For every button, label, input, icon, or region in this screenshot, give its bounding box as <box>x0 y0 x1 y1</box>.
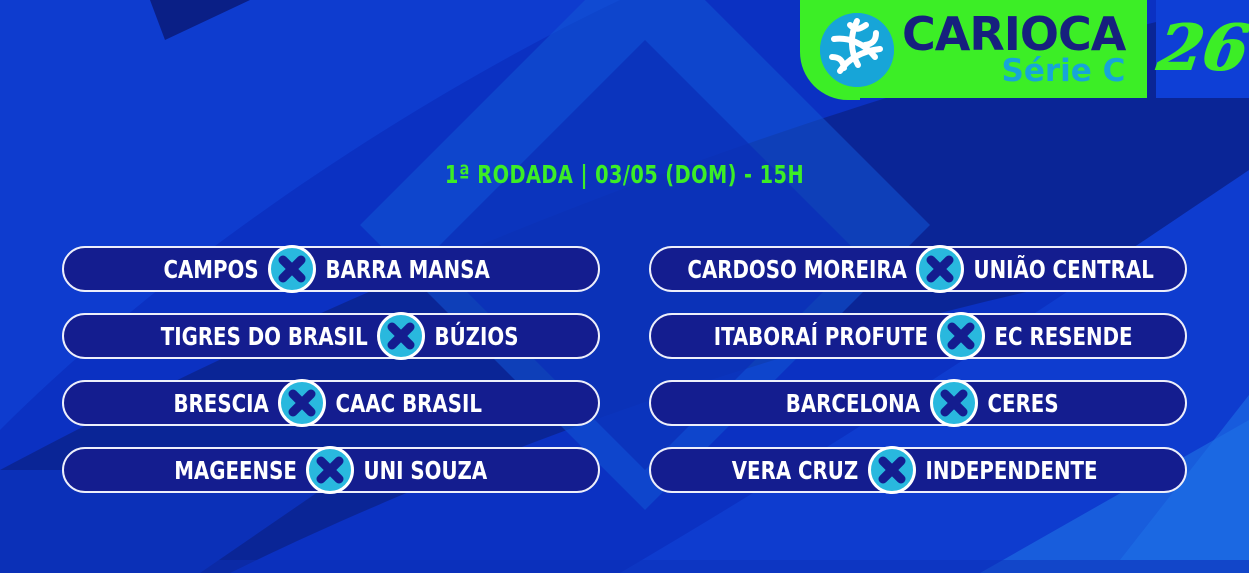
logo-subtitle: Série C <box>902 56 1125 87</box>
logo-wordmark: CARIOCA Série C <box>902 13 1125 87</box>
match-row[interactable]: BRESCIA CAAC BRASIL <box>62 380 600 426</box>
away-team: UNIÃO CENTRAL <box>970 257 1154 282</box>
ball-swirl-icon <box>820 13 894 87</box>
home-team: MAGEENSE <box>174 458 300 483</box>
match-row[interactable]: VERA CRUZ INDEPENDENTE <box>649 447 1187 493</box>
x-mark-icon <box>278 379 326 427</box>
away-team: CAAC BRASIL <box>332 391 482 416</box>
x-versus-icon <box>377 312 425 360</box>
fixture-graphic: CARIOCA Série C 26 1ª RODADA | 03/05 (DO… <box>0 0 1249 573</box>
away-team: BARRA MANSA <box>322 257 490 282</box>
x-mark-icon <box>937 312 985 360</box>
match-row[interactable]: ITABORAÍ PROFUTE EC RESENDE <box>649 313 1187 359</box>
match-column-right: CARDOSO MOREIRA UNIÃO CENTRAL ITABORAÍ P… <box>649 246 1187 493</box>
home-team: BARCELONA <box>786 391 924 416</box>
home-team: CAMPOS <box>163 257 262 282</box>
home-team: BRESCIA <box>173 391 272 416</box>
away-team: CERES <box>984 391 1059 416</box>
x-mark-icon <box>868 446 916 494</box>
x-mark-icon <box>377 312 425 360</box>
competition-logo-badge: CARIOCA Série C <box>802 0 1147 98</box>
x-mark-icon <box>306 446 354 494</box>
x-mark-icon <box>930 379 978 427</box>
logo-title: CARIOCA <box>902 13 1125 55</box>
x-versus-icon <box>268 245 316 293</box>
match-row[interactable]: BARCELONA CERES <box>649 380 1187 426</box>
x-mark-icon <box>268 245 316 293</box>
x-mark-icon <box>916 245 964 293</box>
away-team: INDEPENDENTE <box>922 458 1098 483</box>
x-versus-icon <box>278 379 326 427</box>
season-year: 26 <box>1153 17 1249 81</box>
match-row[interactable]: CARDOSO MOREIRA UNIÃO CENTRAL <box>649 246 1187 292</box>
x-versus-icon <box>868 446 916 494</box>
x-versus-icon <box>306 446 354 494</box>
match-column-left: CAMPOS BARRA MANSA TIGRES DO BRASIL <box>62 246 600 493</box>
home-team: CARDOSO MOREIRA <box>687 257 910 282</box>
x-versus-icon <box>937 312 985 360</box>
season-year-box: 26 <box>1156 0 1249 98</box>
match-columns: CAMPOS BARRA MANSA TIGRES DO BRASIL <box>0 246 1249 493</box>
home-team: VERA CRUZ <box>732 458 862 483</box>
match-row[interactable]: CAMPOS BARRA MANSA <box>62 246 600 292</box>
home-team: TIGRES DO BRASIL <box>160 324 371 349</box>
away-team: EC RESENDE <box>991 324 1133 349</box>
x-versus-icon <box>916 245 964 293</box>
x-versus-icon <box>930 379 978 427</box>
home-team: ITABORAÍ PROFUTE <box>713 324 931 349</box>
match-row[interactable]: TIGRES DO BRASIL BÚZIOS <box>62 313 600 359</box>
match-row[interactable]: MAGEENSE UNI SOUZA <box>62 447 600 493</box>
round-header: 1ª RODADA | 03/05 (DOM) - 15H <box>87 160 1161 189</box>
volleyball-emblem-icon <box>820 13 894 87</box>
away-team: UNI SOUZA <box>360 458 487 483</box>
away-team: BÚZIOS <box>431 324 518 349</box>
